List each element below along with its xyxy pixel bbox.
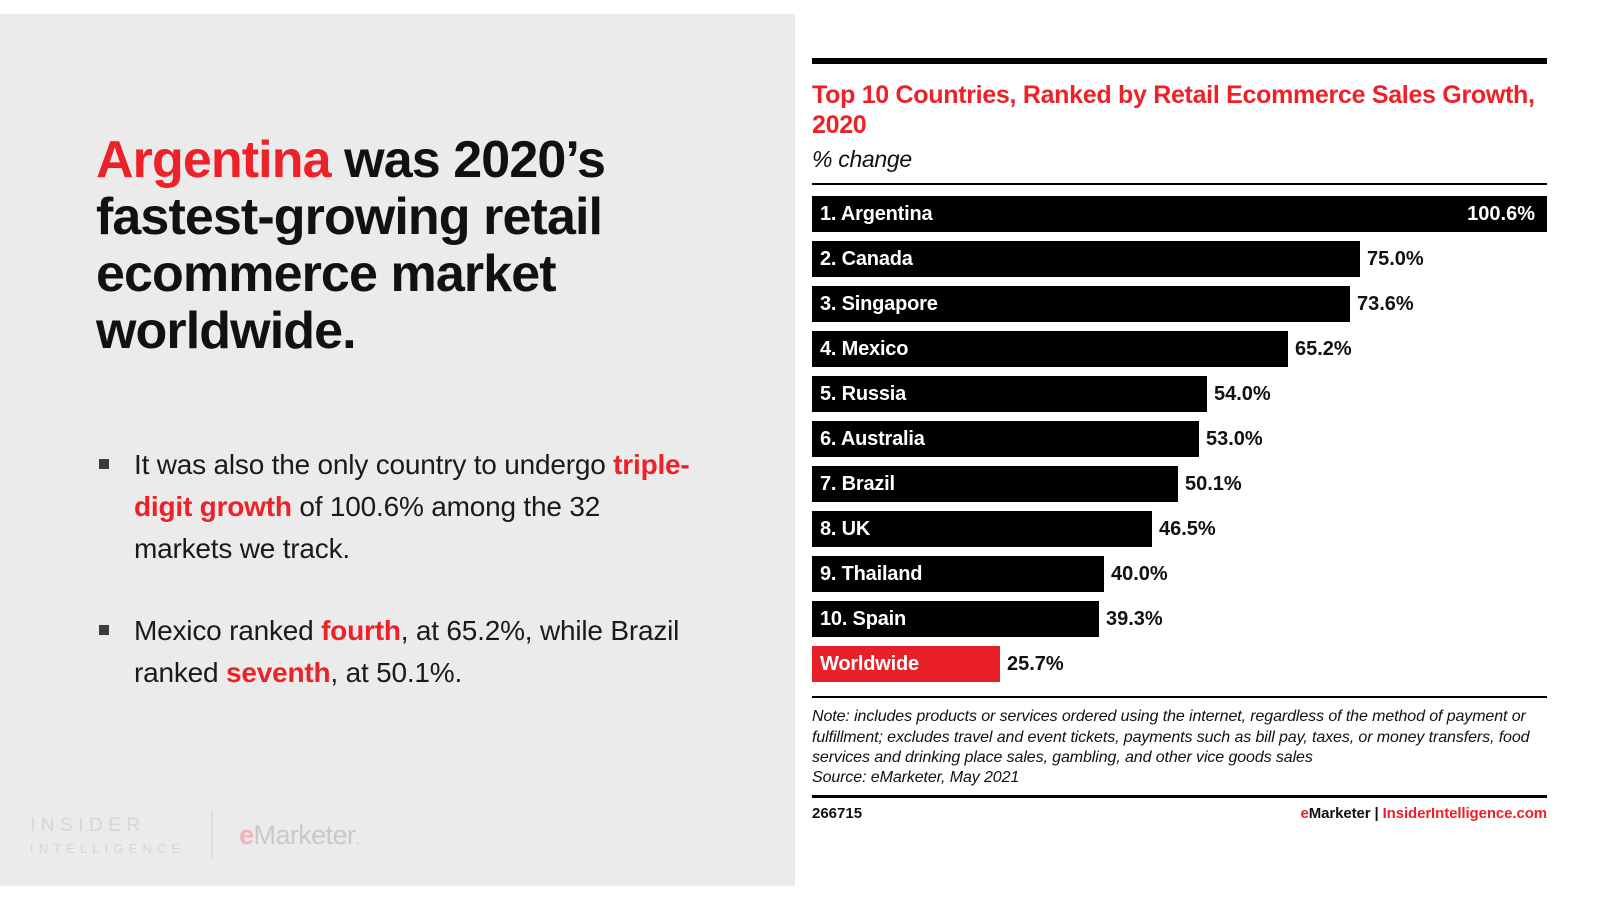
bar-category-label: 6. Australia [820,428,925,451]
bullet-text: It was also the only country to undergo … [134,444,696,570]
chart-title: Top 10 Countries, Ranked by Retail Ecomm… [812,80,1547,140]
footer-brand-marketer: Marketer [1309,805,1371,822]
bar: 1. Argentina100.6% [812,196,1547,232]
footer-brand[interactable]: eMarketer|InsiderIntelligence.com [1300,805,1547,822]
bar-value-label: 50.1% [1178,466,1242,502]
bar-value-label: 54.0% [1207,376,1271,412]
bar-category-label: 4. Mexico [820,338,908,361]
chart-footer-rule [812,795,1547,798]
bar-row: Worldwide25.7% [812,646,1547,682]
slide-root: Argentina was 2020’s fastest-growing ret… [0,0,1600,900]
chart-note: Note: includes products or services orde… [812,707,1547,769]
bar-value-label: 75.0% [1360,241,1424,277]
logo-intelligence-text: INTELLIGENCE [30,842,185,855]
left-content-panel: Argentina was 2020’s fastest-growing ret… [0,14,795,886]
chart-panel: Top 10 Countries, Ranked by Retail Ecomm… [812,0,1547,900]
bar-row: 4. Mexico65.2% [812,331,1547,367]
bar: 7. Brazil [812,466,1178,502]
bar-row: 3. Singapore73.6% [812,286,1547,322]
bar-category-label: 9. Thailand [820,563,922,586]
headline-highlight: Argentina [96,131,331,189]
bar: 10. Spain [812,601,1099,637]
bar-category-label: 5. Russia [820,383,906,406]
bar: 8. UK [812,511,1152,547]
logo-insider-text: INSIDER [30,816,185,835]
emarketer-logo-rest: Marketer [254,820,356,850]
footer-separator: | [1370,805,1382,822]
bar-category-label: Worldwide [820,653,919,676]
list-item: It was also the only country to undergo … [96,444,696,570]
bar-category-label: 7. Brazil [820,473,895,496]
bar-category-label: 10. Spain [820,608,906,631]
bar-chart-bars: 1. Argentina100.6%2. Canada75.0%3. Singa… [812,196,1547,682]
bullet-marker-icon [99,459,109,469]
chart-title-rule [812,183,1547,185]
bar-row: 9. Thailand40.0% [812,556,1547,592]
headline: Argentina was 2020’s fastest-growing ret… [96,132,696,360]
list-item: Mexico ranked fourth, at 65.2%, while Br… [96,610,696,694]
bar: 6. Australia [812,421,1199,457]
bar-value-label: 100.6% [1467,196,1535,232]
bar-row: 10. Spain39.3% [812,601,1547,637]
bar-row: 6. Australia53.0% [812,421,1547,457]
bar-value-label: 25.7% [1000,646,1064,682]
footer-brand-e: e [1300,805,1308,822]
insider-intelligence-wordmark: INSIDER INTELLIGENCE [30,816,185,855]
footer-website-link[interactable]: InsiderIntelligence.com [1383,805,1547,822]
bar-row: 2. Canada75.0% [812,241,1547,277]
bullet-marker-icon [99,625,109,635]
bar-row: 8. UK46.5% [812,511,1547,547]
insider-intelligence-logo: INSIDER INTELLIGENCE eMarketer. [30,812,359,858]
emarketer-logo-dot: . [355,831,359,848]
bar-value-label: 40.0% [1104,556,1168,592]
emarketer-logo: eMarketer. [239,820,359,851]
bullet-list: It was also the only country to undergo … [96,444,696,734]
bar-value-label: 65.2% [1288,331,1352,367]
bar-value-label: 73.6% [1350,286,1414,322]
bar: 4. Mexico [812,331,1288,367]
bar-row: 5. Russia54.0% [812,376,1547,412]
bar-value-label: 39.3% [1099,601,1163,637]
bar-category-label: 8. UK [820,518,870,541]
bullet-text: Mexico ranked fourth, at 65.2%, while Br… [134,610,696,694]
chart-source: Source: eMarketer, May 2021 [812,769,1547,787]
bar-row: 1. Argentina100.6% [812,196,1547,232]
bar-category-label: 2. Canada [820,248,913,271]
bar-category-label: 1. Argentina [820,203,932,226]
bar: Worldwide [812,646,1000,682]
bar: 2. Canada [812,241,1360,277]
bar-category-label: 3. Singapore [820,293,938,316]
chart-id: 266715 [812,805,862,822]
chart-footer: 266715 eMarketer|InsiderIntelligence.com [812,805,1547,822]
bar: 9. Thailand [812,556,1104,592]
bar: 3. Singapore [812,286,1350,322]
emarketer-logo-e: e [239,820,253,850]
bar-value-label: 46.5% [1152,511,1216,547]
bar-row: 7. Brazil50.1% [812,466,1547,502]
chart-subtitle: % change [812,146,1547,173]
chart-top-rule [812,58,1547,64]
bar: 5. Russia [812,376,1207,412]
logo-divider [211,812,213,858]
chart-notes-rule [812,696,1547,698]
bar-value-label: 53.0% [1199,421,1263,457]
